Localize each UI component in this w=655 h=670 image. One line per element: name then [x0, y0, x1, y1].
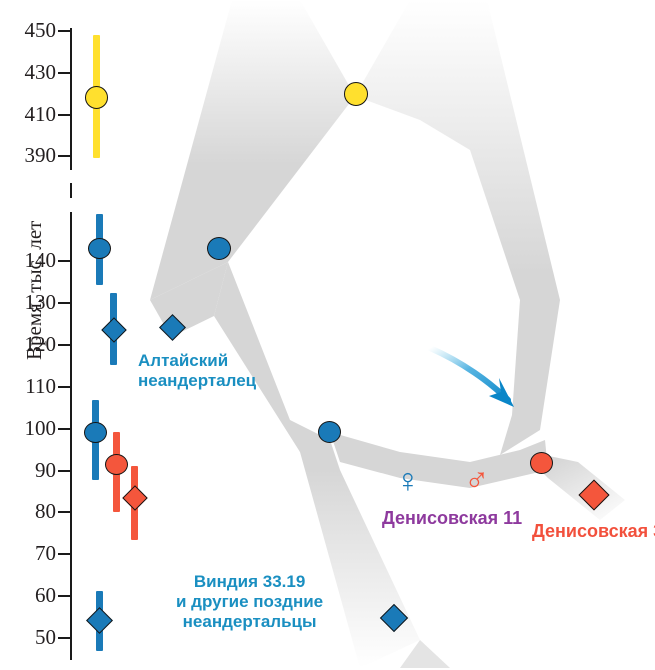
label-vindija: Виндия 33.19 и другие поздние неандертал…: [176, 572, 323, 632]
y-axis-title: Время, тыс. лет: [22, 221, 47, 360]
tick-label-70: 70: [0, 543, 56, 564]
y-axis-break-mark: [70, 183, 72, 198]
label-denisova-3: Денисовская 3: [532, 521, 655, 541]
tick-140: [58, 260, 71, 262]
label-denisova-11: Денисовская 11: [382, 508, 522, 528]
marker-tree-neanderthal-split[interactable]: [207, 237, 231, 260]
marker-late-neanderthal-node-circle[interactable]: [84, 422, 107, 443]
tick-90: [58, 470, 71, 472]
tick-label-430: 430: [0, 62, 56, 83]
marker-tree-late-neanderthal[interactable]: [318, 421, 341, 443]
tick-50: [58, 637, 71, 639]
label-altai-neanderthal: Алтайский неандерталец: [138, 351, 256, 391]
ribbon-denisovan-upper: [355, 0, 560, 455]
ribbon-neanderthal-upper: [150, 0, 355, 300]
tick-label-410: 410: [0, 104, 56, 125]
tick-label-450: 450: [0, 20, 56, 41]
tick-410: [58, 114, 71, 116]
admixture-arrow-shaft: [430, 348, 508, 400]
tick-label-100: 100: [0, 418, 56, 439]
tick-60: [58, 595, 71, 597]
tick-110: [58, 386, 71, 388]
tick-430: [58, 72, 71, 74]
y-axis-upper: [70, 28, 72, 170]
tick-70: [58, 553, 71, 555]
tick-label-60: 60: [0, 585, 56, 606]
tick-label-390: 390: [0, 145, 56, 166]
female-symbol-icon: ♀: [395, 464, 421, 498]
tick-label-50: 50: [0, 627, 56, 648]
tick-80: [58, 511, 71, 513]
marker-denisovan-node-circle[interactable]: [105, 454, 128, 475]
tick-130: [58, 302, 71, 304]
tick-120: [58, 344, 71, 346]
male-symbol-icon: ♂: [464, 462, 490, 496]
marker-ancestor-circle[interactable]: [85, 86, 108, 109]
tick-390: [58, 155, 71, 157]
tick-label-90: 90: [0, 460, 56, 481]
tick-450: [58, 30, 71, 32]
y-axis-lower: [70, 212, 72, 660]
marker-tree-ancestor[interactable]: [344, 82, 368, 106]
tick-label-110: 110: [0, 376, 56, 397]
tick-100: [58, 428, 71, 430]
figure-canvas: 450 430 410 390 140 130 120 110 100 90 8…: [0, 0, 655, 670]
marker-neanderthal-line-circle[interactable]: [88, 238, 111, 259]
marker-tree-denisovan-node[interactable]: [530, 452, 553, 474]
tick-label-80: 80: [0, 501, 56, 522]
